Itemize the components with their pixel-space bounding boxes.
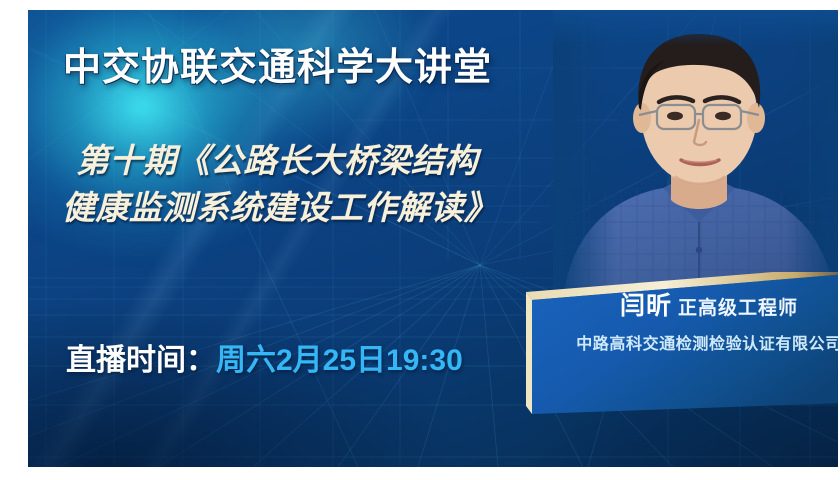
live-time-value: 周六2月25日19:30 [216, 344, 463, 377]
live-time-label: 直播时间： [66, 344, 216, 377]
poster-canvas: 中交协联交通科学大讲堂 第十期《公路长大桥梁结构 健康监测系统建设工作解读》 直… [28, 10, 838, 467]
subtitle-line-1: 第十期《公路长大桥梁结构 [62, 138, 602, 185]
live-time-row: 直播时间：周六2月25日19:30 [66, 335, 463, 379]
subtitle-line-2: 健康监测系统建设工作解读》 [62, 185, 602, 232]
subtitle-block: 第十期《公路长大桥梁结构 健康监测系统建设工作解读》 [62, 138, 602, 232]
speaker-info-panel: 闫昕正高级工程师 中路高科交通检测检验认证有限公司 [492, 272, 838, 422]
page-title: 中交协联交通科学大讲堂 [63, 36, 492, 91]
